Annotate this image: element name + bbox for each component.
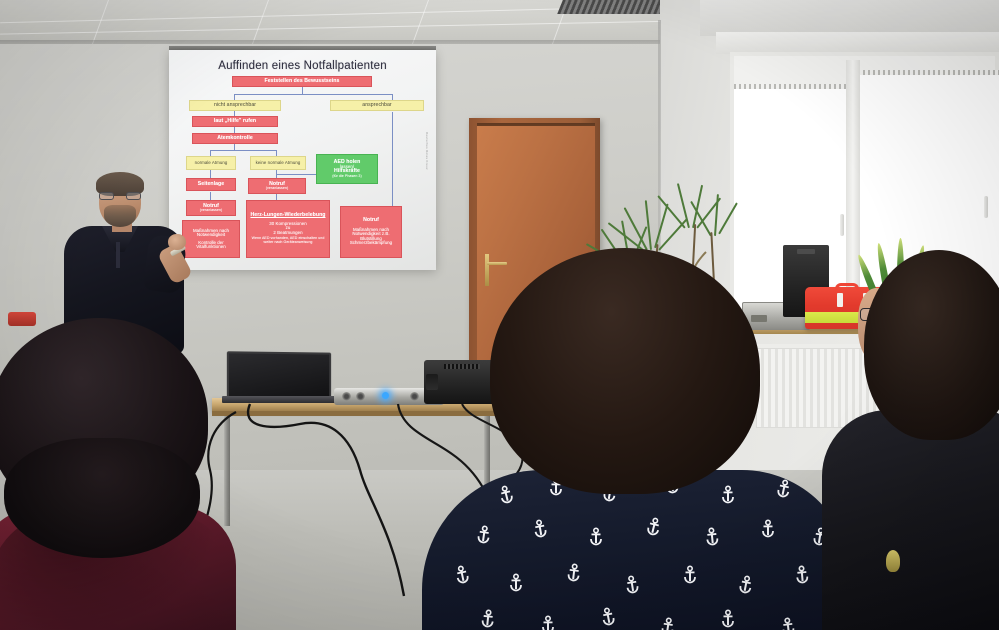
slide-box-b1: Feststellen des Bewusstseins — [232, 76, 372, 87]
audience-left-hair-lower — [4, 438, 200, 558]
projector-lens — [426, 374, 438, 390]
window-header-top — [700, 0, 999, 36]
window-handle-left[interactable] — [840, 214, 844, 236]
audience-right-jacket — [822, 410, 999, 630]
slide-title: Auffinden eines Notfallpatienten — [172, 60, 433, 72]
presenter-beard — [104, 205, 136, 227]
audience-center-hair — [490, 248, 760, 494]
audience-left — [0, 318, 250, 630]
speaker-cone-right — [410, 392, 419, 401]
presenter-table-edge — [212, 411, 500, 416]
slide-box-b14: Notruf Maßnahmen nach Notwendigkeit z.B.… — [340, 206, 402, 258]
anchor-print-pattern — [422, 470, 852, 630]
slide-box-b3: ansprechbar — [330, 100, 424, 111]
audience-center-blouse — [422, 470, 852, 630]
window-handle-right[interactable] — [984, 196, 988, 218]
glasses-icon — [99, 192, 141, 200]
window-blind-left — [734, 84, 846, 89]
audience-center — [470, 248, 850, 630]
audience-right-hair — [864, 250, 999, 440]
speaker-cone-left — [342, 392, 351, 401]
slide-box-b6: normale Atmung — [186, 156, 236, 170]
window-header — [716, 32, 999, 54]
slide-box-b10: Notruf (veranlassen) — [248, 178, 306, 194]
slide-box-b2: nicht ansprechbar — [189, 100, 281, 111]
classroom-presentation-photo: Auffinden eines Notfallpatienten Deutsch… — [0, 0, 999, 630]
power-led-icon — [382, 392, 389, 399]
slide-box-b13: Herz-Lungen-Wiederbelebung 30 Kompressio… — [246, 200, 330, 258]
slide-box-b5: Atemkontrolle — [192, 133, 278, 144]
slide-box-b4: laut „Hilfe" rufen — [192, 116, 278, 127]
audience-right — [830, 250, 999, 630]
slide-side-note: Deutsches Rotes Kreuz — [425, 132, 429, 170]
presenter-hand — [168, 234, 186, 250]
badge-icon — [886, 550, 900, 572]
projection-screen: Auffinden eines Notfallpatienten Deutsch… — [169, 50, 436, 270]
slide-box-b11: AED holen lassen/ Hilfskräfte (für die P… — [316, 154, 378, 184]
slide-box-b7: keine normale Atmung — [250, 156, 306, 170]
presenter-placket — [116, 242, 120, 268]
speaker-cone-left2 — [356, 392, 365, 401]
window-blind-right — [858, 70, 999, 75]
slide-content: Auffinden eines Notfallpatienten Deutsch… — [172, 54, 433, 266]
